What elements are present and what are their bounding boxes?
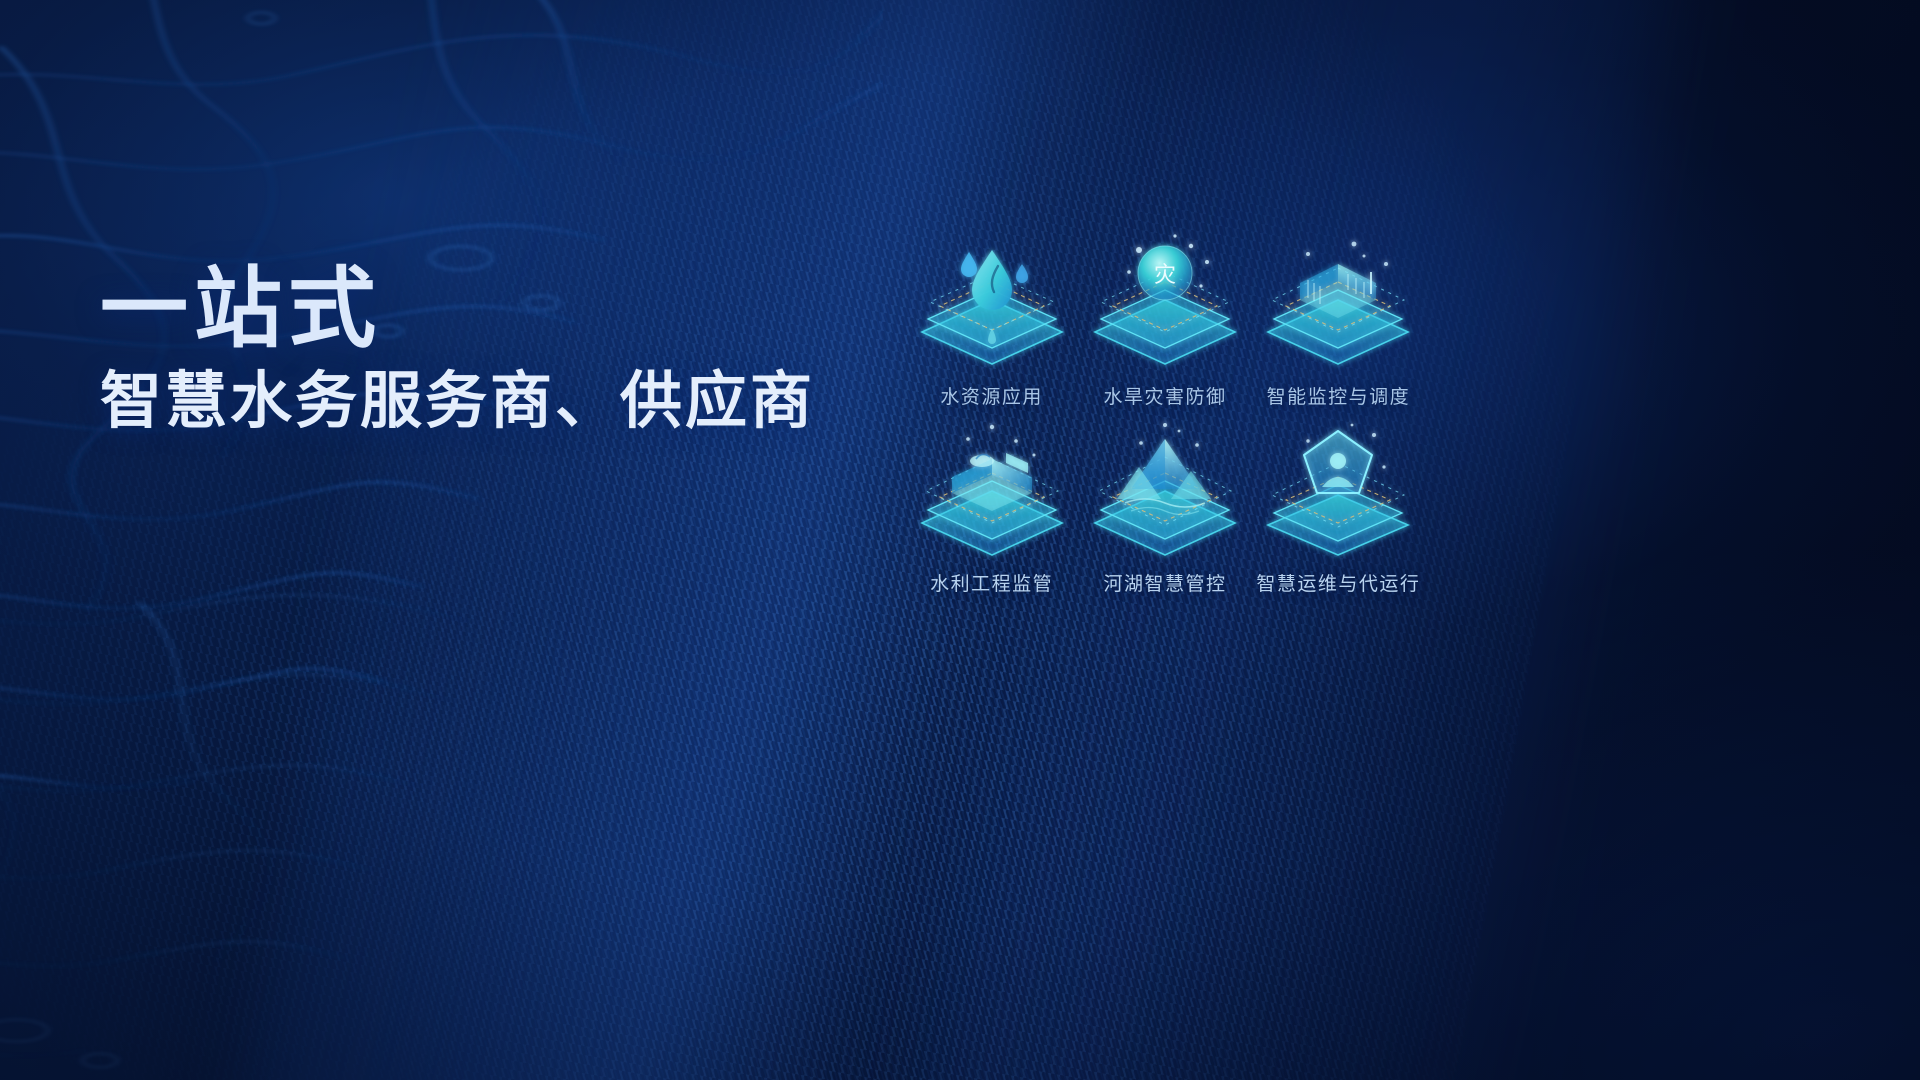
page-title-line1: 一站式	[100, 262, 815, 355]
water-splash-texture-lower	[0, 562, 538, 1080]
water-drop-isometric-icon	[906, 228, 1078, 380]
page-title-line2: 智慧水务服务商、供应商	[100, 369, 815, 436]
service-card-river-lake-control[interactable]: 河湖智慧管控	[1078, 415, 1251, 596]
disaster-sphere-isometric-icon: 灾	[1079, 228, 1251, 380]
diagonal-mesh-texture-left	[0, 361, 865, 1080]
service-card-smart-operations[interactable]: 智慧运维与代运行	[1252, 415, 1425, 596]
service-icon-grid: 水资源应用	[905, 228, 1425, 596]
water-splash-texture	[0, 0, 883, 929]
slide-canvas: 一站式 智慧水务服务商、供应商	[0, 0, 1920, 1080]
river-lake-mountain-isometric-icon	[1079, 415, 1251, 567]
service-label: 水资源应用	[940, 382, 1043, 409]
shield-operations-isometric-icon	[1252, 415, 1424, 567]
service-card-hydraulic-supervision[interactable]: 水利工程监管	[905, 415, 1078, 596]
service-label: 水旱灾害防御	[1103, 382, 1226, 409]
service-label: 水利工程监管	[930, 569, 1053, 596]
headline-block: 一站式 智慧水务服务商、供应商	[100, 262, 815, 436]
service-card-flood-drought-defense[interactable]: 灾 水旱灾害防御	[1078, 228, 1251, 409]
service-label: 智能监控与调度	[1267, 382, 1411, 409]
hydraulic-works-isometric-icon	[906, 415, 1078, 567]
service-card-water-resource[interactable]: 水资源应用	[905, 228, 1078, 409]
service-label: 河湖智慧管控	[1103, 569, 1226, 596]
sphere-character: 灾	[1154, 262, 1176, 287]
dam-monitoring-isometric-icon	[1252, 228, 1424, 380]
service-label: 智慧运维与代运行	[1256, 569, 1420, 596]
service-card-intelligent-monitoring[interactable]: 智能监控与调度	[1252, 228, 1425, 409]
